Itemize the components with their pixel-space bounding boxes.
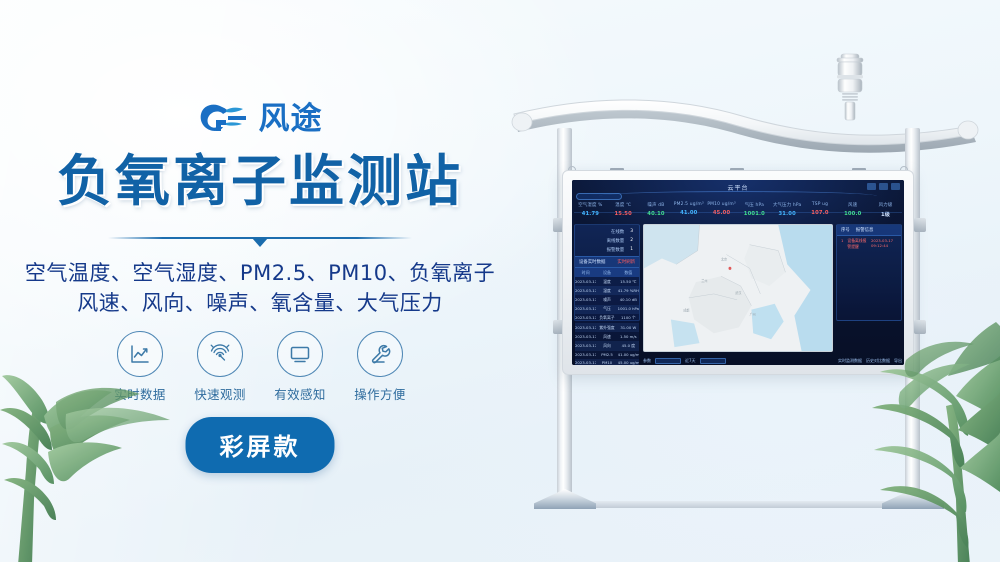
feature-item-effective-sensing[interactable]: 有效感知 — [274, 331, 326, 403]
metric-label: 气压 hPa — [738, 202, 771, 208]
feature-item-easy-operation[interactable]: 操作方便 — [354, 331, 406, 403]
chart-controls[interactable]: 参数 近7天 实时监测数据 历史对比数据 导出 — [643, 356, 902, 365]
alarm-cell: 1 — [841, 238, 843, 250]
data-table-title: 设备实时数据 — [579, 259, 605, 265]
monitor-screen-icon — [277, 331, 323, 377]
table-cell: 2023-03-17 09:18 — [575, 359, 596, 365]
table-cell: 40.10 dB — [618, 295, 639, 304]
metric-label: PM2.5 ug/m³ — [672, 202, 705, 207]
metric-item: 大气压力 hPa31.00 — [771, 202, 804, 218]
line-chart-icon — [117, 331, 163, 377]
radar-target-icon — [197, 331, 243, 377]
pole-bracket-right-upper — [914, 218, 926, 232]
svg-text:北京: 北京 — [721, 256, 727, 261]
table-cell: 2023-03-17 09:23 — [575, 314, 596, 323]
table-column-header: 时间 — [575, 268, 596, 277]
stat-value: 3 — [630, 229, 633, 235]
pole-base-plate-left — [534, 489, 596, 509]
feature-label: 有效感知 — [274, 384, 326, 403]
alarm-row[interactable]: 1设备离线报警提醒2023-03-17 09:12:44 — [837, 236, 901, 252]
table-row[interactable]: 2023-03-17 09:18PM1045.00 ug/m³ — [575, 359, 639, 365]
alarm-cell: 设备离线报警提醒 — [847, 238, 867, 250]
chart-range-label: 近7天 — [685, 358, 696, 364]
table-cell: 温度 — [596, 277, 617, 286]
table-cell: 噪声 — [596, 295, 617, 304]
alarm-cell: 2023-03-17 09:12:44 — [871, 238, 897, 250]
metric-item: 空气湿度 %41.79 — [574, 202, 607, 218]
alarm-columns: 序号报警信息 — [837, 225, 901, 236]
color-screen-model-button[interactable]: 彩屏款 — [186, 417, 335, 473]
chart-range-select[interactable] — [700, 358, 726, 364]
chart-export-button[interactable]: 导出 — [894, 358, 902, 364]
station-stats: 在线数3离线数量2报警数量1 — [575, 225, 639, 253]
table-cell: 2023-03-17 09:21 — [575, 332, 596, 341]
feature-label: 实时数据 — [114, 384, 166, 403]
metric-item: PM10 ug/m³45.00 — [705, 202, 738, 218]
metric-strip: 空气湿度 %41.79温度 ℃15.50噪声 dB40.10PM2.5 ug/m… — [574, 202, 902, 218]
metric-label: 温度 ℃ — [607, 202, 640, 208]
chart-legend-2: 历史对比数据 — [866, 358, 890, 364]
table-cell: 15.50 ℃ — [618, 277, 639, 286]
metric-item: 风速100.0 — [836, 202, 869, 218]
page-title: 负氧离子监测站 — [0, 152, 520, 211]
subtitle: 空气温度、空气湿度、PM2.5、PM10、负氧离子 风速、风向、噪声、氧含量、大… — [0, 259, 520, 319]
table-cell: 紫外强度 — [596, 323, 617, 332]
feature-list: 实时数据 快速观测 — [0, 331, 520, 403]
stat-row: 报警数量1 — [581, 247, 633, 253]
table-cell: 2023-03-17 09:22 — [575, 323, 596, 332]
layers-icon[interactable] — [867, 183, 876, 190]
feature-label: 操作方便 — [354, 384, 406, 403]
metric-label: 噪声 dB — [640, 202, 673, 208]
metric-label: TSP ug — [804, 202, 837, 207]
stat-row: 离线数量2 — [581, 238, 633, 244]
chart-control-label: 参数 — [643, 358, 651, 364]
stat-value: 1 — [630, 247, 633, 253]
data-table-body: 2023-03-17 09:27温度15.50 ℃2023-03-17 09:2… — [575, 277, 639, 365]
metric-label: 空气湿度 % — [574, 202, 607, 208]
fullscreen-icon[interactable] — [891, 183, 900, 190]
subtitle-line-2: 风速、风向、噪声、氧含量、大气压力 — [0, 289, 520, 319]
table-cell: 1100 个 — [618, 314, 639, 323]
table-row[interactable]: 2023-03-17 09:27温度15.50 ℃ — [575, 277, 639, 286]
metric-item: PM2.5 ug/m³41.00 — [672, 202, 705, 218]
chart-legend-1: 实时监测数据 — [838, 358, 862, 364]
svg-text:兰州: 兰州 — [701, 278, 707, 283]
metric-item: 风力级1级 — [869, 202, 902, 218]
table-row[interactable]: 2023-03-17 09:26湿度41.79 %RH — [575, 286, 639, 295]
table-cell: 2023-03-17 09:24 — [575, 305, 596, 314]
metric-divider — [574, 212, 902, 213]
poster-canvas: 云平台 空气湿度 %41.79温度 ℃15.50噪声 dB40.10PM2.5 … — [0, 0, 1000, 562]
metric-item: 气压 hPa1001.0 — [738, 202, 771, 218]
table-cell: 45.00 ug/m³ — [618, 359, 639, 365]
station-selector[interactable] — [576, 193, 622, 200]
stat-row: 在线数3 — [581, 229, 633, 235]
alarm-column-header: 序号 — [841, 227, 850, 233]
dashboard-ui[interactable]: 云平台 空气湿度 %41.79温度 ℃15.50噪声 dB40.10PM2.5 … — [572, 180, 904, 365]
table-row[interactable]: 2023-03-17 09:22紫外强度31.00 W — [575, 323, 639, 332]
stat-label: 报警数量 — [607, 247, 625, 253]
metric-value: 41.00 — [672, 210, 705, 216]
table-cell: 1.50 m/s — [618, 332, 639, 341]
table-row[interactable]: 2023-03-17 09:20风向45.0 度 — [575, 341, 639, 350]
wind-g-logo-icon — [198, 101, 250, 137]
svg-text:成都: 成都 — [683, 307, 690, 312]
metric-label: 风速 — [836, 202, 869, 208]
display-screen[interactable]: 云平台 空气湿度 %41.79温度 ℃15.50噪声 dB40.10PM2.5 … — [572, 180, 904, 365]
table-cell: 41.00 ug/m³ — [618, 351, 639, 359]
metric-item: 噪声 dB40.10 — [640, 202, 673, 218]
pole-base-plate-right — [882, 489, 944, 509]
dashboard-tool-icons[interactable] — [867, 183, 900, 190]
feature-label: 快速观测 — [194, 384, 246, 403]
alarm-column-header: 报警信息 — [856, 227, 874, 233]
china-map-panel[interactable]: 北京 兰州 武汉 广州 成都 — [643, 224, 833, 352]
table-cell: PM2.5 — [596, 351, 617, 359]
data-table-badge: 实时刷新 — [617, 259, 635, 265]
china-map-icon: 北京 兰州 武汉 广州 成都 — [644, 225, 832, 351]
display-cabinet: 云平台 空气湿度 %41.79温度 ℃15.50噪声 dB40.10PM2.5 … — [562, 170, 914, 375]
ground-line — [560, 501, 908, 508]
svg-text:武汉: 武汉 — [735, 290, 742, 295]
metric-item: 温度 ℃15.50 — [607, 202, 640, 218]
stat-value: 2 — [630, 238, 633, 244]
table-cell: 2023-03-17 09:19 — [575, 351, 596, 359]
metric-label: 风力级 — [869, 202, 902, 208]
table-column-header: 设备 — [596, 268, 617, 277]
alarm-body: 1设备离线报警提醒2023-03-17 09:12:44 — [837, 236, 901, 252]
table-row[interactable]: 2023-03-17 09:19PM2.541.00 ug/m³ — [575, 351, 639, 359]
metric-item: TSP ug107.0 — [804, 202, 837, 218]
table-cell: 41.79 %RH — [618, 286, 639, 295]
metric-label: PM10 ug/m³ — [705, 202, 738, 207]
metric-value: 45.00 — [705, 210, 738, 216]
table-cell: 2023-03-17 09:26 — [575, 286, 596, 295]
brand-name: 风途 — [259, 104, 323, 135]
table-cell: 45.0 度 — [618, 341, 639, 350]
table-cell: 2023-03-17 09:20 — [575, 341, 596, 350]
dashboard-title: 云平台 — [572, 183, 904, 192]
metric-value: 107.0 — [804, 210, 837, 216]
table-row[interactable]: 2023-03-17 09:23负氧离子1100 个 — [575, 314, 639, 323]
feature-item-realtime-data[interactable]: 实时数据 — [114, 331, 166, 403]
table-column-header: 数值 — [618, 268, 639, 277]
table-cell: 负氧离子 — [596, 314, 617, 323]
table-cell: 1001.0 hPa — [618, 305, 639, 314]
table-cell: PM10 — [596, 359, 617, 365]
alarm-panel: 序号报警信息 1设备离线报警提醒2023-03-17 09:12:44 — [836, 224, 902, 321]
table-cell: 2023-03-17 09:27 — [575, 277, 596, 286]
table-cell: 风向 — [596, 341, 617, 350]
feature-item-fast-observation[interactable]: 快速观测 — [194, 331, 246, 403]
stat-label: 离线数量 — [607, 238, 625, 244]
table-cell: 2023-03-17 09:25 — [575, 295, 596, 304]
wrench-icon — [357, 331, 403, 377]
svg-text:广州: 广州 — [750, 311, 756, 316]
data-table-header: 设备实时数据 实时刷新 — [575, 256, 639, 268]
stat-label: 在线数 — [611, 229, 624, 235]
data-table-columns: 时间设备数值 — [575, 268, 639, 277]
table-cell: 湿度 — [596, 286, 617, 295]
ultrasonic-weather-sensor-icon — [821, 52, 879, 122]
table-cell: 31.00 W — [618, 323, 639, 332]
subtitle-line-1: 空气温度、空气湿度、PM2.5、PM10、负氧离子 — [0, 259, 520, 289]
table-cell: 气压 — [596, 305, 617, 314]
settings-icon[interactable] — [879, 183, 888, 190]
hero-text-column: 风途 负氧离子监测站 空气温度、空气湿度、PM2.5、PM10、负氧离子 风速、… — [0, 0, 520, 562]
brand-logo: 风途 — [0, 101, 520, 137]
chart-param-select[interactable] — [655, 358, 681, 364]
table-row[interactable]: 2023-03-17 09:24气压1001.0 hPa — [575, 305, 639, 314]
table-row[interactable]: 2023-03-17 09:21风速1.50 m/s — [575, 332, 639, 341]
pole-bracket-right-lower — [914, 320, 926, 334]
divider-triangle-icon — [252, 238, 268, 247]
table-row[interactable]: 2023-03-17 09:25噪声40.10 dB — [575, 295, 639, 304]
left-data-panel: 在线数3离线数量2报警数量1 设备实时数据 实时刷新 时间设备数值 2023-0… — [574, 224, 640, 321]
divider — [0, 234, 520, 248]
metric-label: 大气压力 hPa — [771, 202, 804, 208]
table-cell: 风速 — [596, 332, 617, 341]
